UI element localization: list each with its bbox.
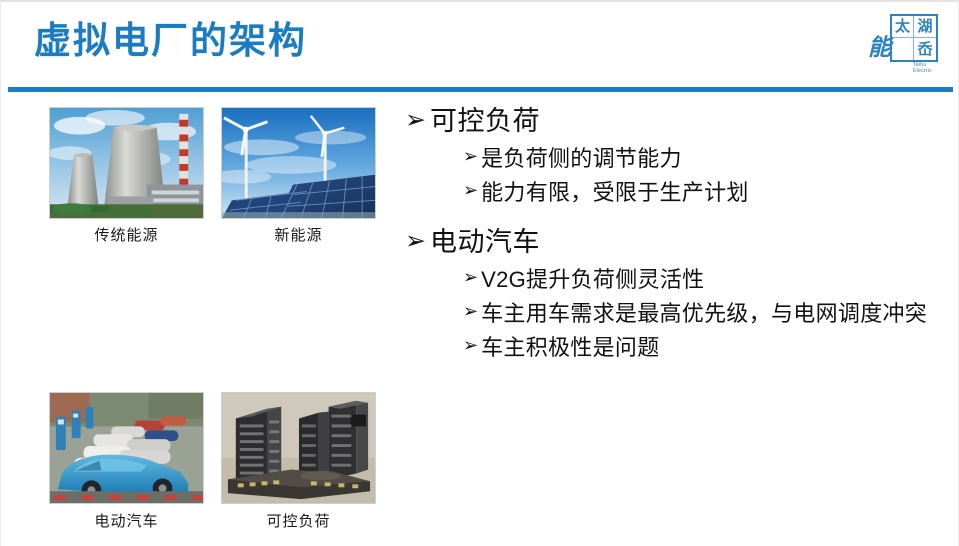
bullet-item: ➢ 车主积极性是问题 (463, 332, 950, 363)
electric-vehicles-illustration (50, 393, 203, 503)
bullet-item: ➢ 车主用车需求是最高优先级，与电网调度冲突 (463, 298, 950, 329)
bullet-heading-text: 可控负荷 (430, 104, 540, 139)
logo-char-tai: 太 (892, 16, 914, 38)
logo-char-ao: 岙 (914, 38, 936, 60)
bullet-item: ➢ 能力有限，受限于生产计划 (463, 177, 950, 208)
bullet-heading-electric-vehicles: ➢ 电动汽车 (405, 225, 950, 260)
bullet-item: ➢ V2G提升负荷侧灵活性 (463, 264, 950, 295)
bullet-arrow-icon: ➢ (463, 181, 478, 199)
caption-new-energy: 新能源 (220, 224, 377, 245)
image-traditional-energy (49, 107, 204, 219)
page-title: 虚拟电厂的架构 (34, 18, 307, 64)
logo-calligraphy-char: 能 (868, 36, 891, 59)
bullet-item-text: 能力有限，受限于生产计划 (481, 177, 749, 208)
bullet-heading-text: 电动汽车 (430, 225, 540, 260)
traditional-energy-illustration (50, 108, 203, 218)
image-controllable-load (221, 392, 376, 504)
bullet-list: ➢ 可控负荷 ➢ 是负荷侧的调节能力 ➢ 能力有限，受限于生产计划 ➢ 电动汽车… (405, 104, 950, 366)
bullet-arrow-icon: ➢ (463, 147, 478, 165)
logo-cell-blank (892, 38, 914, 60)
logo-english-line2: Electric (913, 68, 932, 74)
new-energy-illustration (222, 108, 375, 218)
bullet-item-text: 是负荷侧的调节能力 (481, 143, 682, 174)
bullet-arrow-icon: ➢ (405, 229, 426, 254)
bullet-item-text: V2G提升负荷侧灵活性 (481, 264, 704, 295)
bullet-item-text: 车主用车需求是最高优先级，与电网调度冲突 (481, 298, 927, 329)
image-electric-vehicles (49, 392, 204, 504)
bullet-group-spacer (405, 211, 950, 225)
bullet-heading-controllable-load: ➢ 可控负荷 (405, 104, 950, 139)
bullet-item-text: 车主积极性是问题 (481, 332, 659, 363)
caption-electric-vehicles: 电动汽车 (48, 510, 205, 531)
bullet-arrow-icon: ➢ (463, 302, 478, 320)
bullet-arrow-icon: ➢ (463, 268, 478, 286)
logo-english-text: Taihu Electric (913, 62, 932, 75)
bullet-item: ➢ 是负荷侧的调节能力 (463, 143, 950, 174)
bullet-arrow-icon: ➢ (405, 108, 426, 133)
image-new-energy (221, 107, 376, 219)
slide: 虚拟电厂的架构 太 湖 岙 能 Taihu Electric (0, 0, 959, 546)
logo-char-hu: 湖 (914, 16, 936, 38)
logo-character-box: 太 湖 岙 (890, 14, 938, 62)
company-logo: 太 湖 岙 能 Taihu Electric (868, 12, 940, 76)
title-divider (8, 87, 953, 92)
bullet-arrow-icon: ➢ (463, 336, 478, 354)
controllable-load-illustration (222, 393, 375, 503)
caption-traditional-energy: 传统能源 (48, 224, 205, 245)
caption-controllable-load: 可控负荷 (220, 510, 377, 531)
